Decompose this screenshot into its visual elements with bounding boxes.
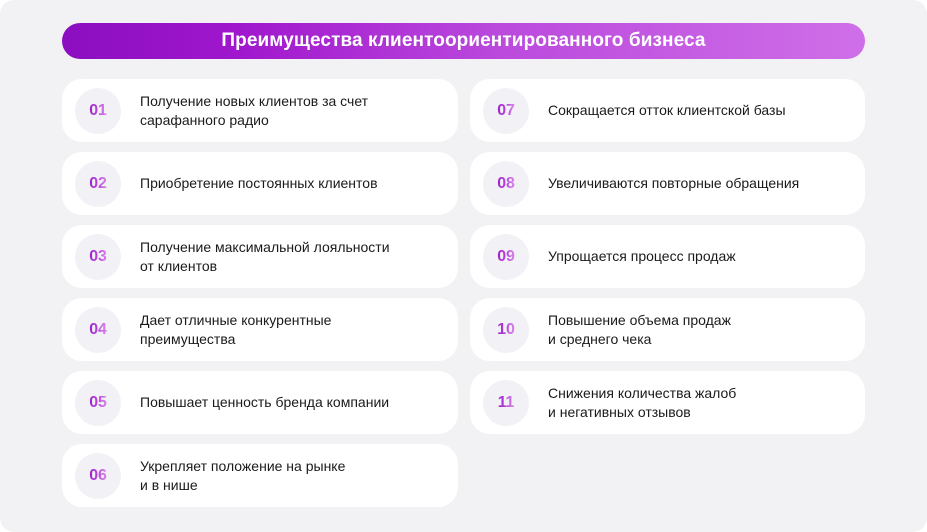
benefit-text: Снижения количества жалоб и негативных о… (548, 384, 736, 422)
benefit-card: 07Сокращается отток клиентской базы (470, 79, 865, 142)
benefit-number-badge: 05 (75, 380, 121, 426)
benefit-number: 09 (497, 248, 514, 266)
benefit-number: 05 (89, 394, 106, 412)
benefit-number-badge: 07 (483, 88, 529, 134)
benefit-text: Приобретение постоянных клиентов (140, 174, 378, 193)
benefit-number: 11 (498, 394, 515, 412)
page-title: Преимущества клиентоориентированного биз… (221, 30, 705, 52)
benefit-card: 11Снижения количества жалоб и негативных… (470, 371, 865, 434)
benefit-card: 05Повышает ценность бренда компании (62, 371, 458, 434)
benefit-number-badge: 01 (75, 88, 121, 134)
benefit-text: Укрепляет положение на рынке и в нише (140, 457, 345, 495)
benefit-card: 04Дает отличные конкурентные преимуществ… (62, 298, 458, 361)
benefit-card: 09Упрощается процесс продаж (470, 225, 865, 288)
benefit-card: 03Получение максимальной лояльности от к… (62, 225, 458, 288)
benefit-number: 01 (89, 102, 106, 120)
benefit-card: 06Укрепляет положение на рынке и в нише (62, 444, 458, 507)
benefit-number-badge: 02 (75, 161, 121, 207)
benefit-text: Получение максимальной лояльности от кли… (140, 238, 390, 276)
benefit-number-badge: 04 (75, 307, 121, 353)
benefit-number: 03 (89, 248, 106, 266)
benefit-text: Увеличиваются повторные обращения (548, 174, 799, 193)
benefit-number-badge: 03 (75, 234, 121, 280)
benefit-text: Упрощается процесс продаж (548, 247, 736, 266)
infographic-title-bar: Преимущества клиентоориентированного биз… (62, 23, 865, 59)
infographic-panel: Преимущества клиентоориентированного биз… (0, 0, 927, 532)
benefits-column-right: 07Сокращается отток клиентской базы08Уве… (470, 79, 865, 434)
benefit-number-badge: 09 (483, 234, 529, 280)
benefit-card: 02Приобретение постоянных клиентов (62, 152, 458, 215)
benefit-number-badge: 08 (483, 161, 529, 207)
benefit-number: 04 (89, 321, 106, 339)
benefit-number-badge: 10 (483, 307, 529, 353)
benefit-text: Сокращается отток клиентской базы (548, 101, 786, 120)
benefit-text: Повышение объема продаж и среднего чека (548, 311, 731, 349)
benefit-text: Получение новых клиентов за счет сарафан… (140, 92, 368, 130)
benefit-number: 07 (497, 102, 514, 120)
benefit-number: 08 (497, 175, 514, 193)
benefit-number: 06 (89, 467, 106, 485)
benefit-number-badge: 11 (483, 380, 529, 426)
benefit-card: 10Повышение объема продаж и среднего чек… (470, 298, 865, 361)
benefit-card: 08Увеличиваются повторные обращения (470, 152, 865, 215)
benefit-text: Дает отличные конкурентные преимущества (140, 311, 331, 349)
benefit-card: 01Получение новых клиентов за счет сараф… (62, 79, 458, 142)
benefit-text: Повышает ценность бренда компании (140, 393, 389, 412)
benefits-column-left: 01Получение новых клиентов за счет сараф… (62, 79, 458, 507)
benefit-number: 10 (497, 321, 514, 339)
benefit-number: 02 (89, 175, 106, 193)
benefit-number-badge: 06 (75, 453, 121, 499)
